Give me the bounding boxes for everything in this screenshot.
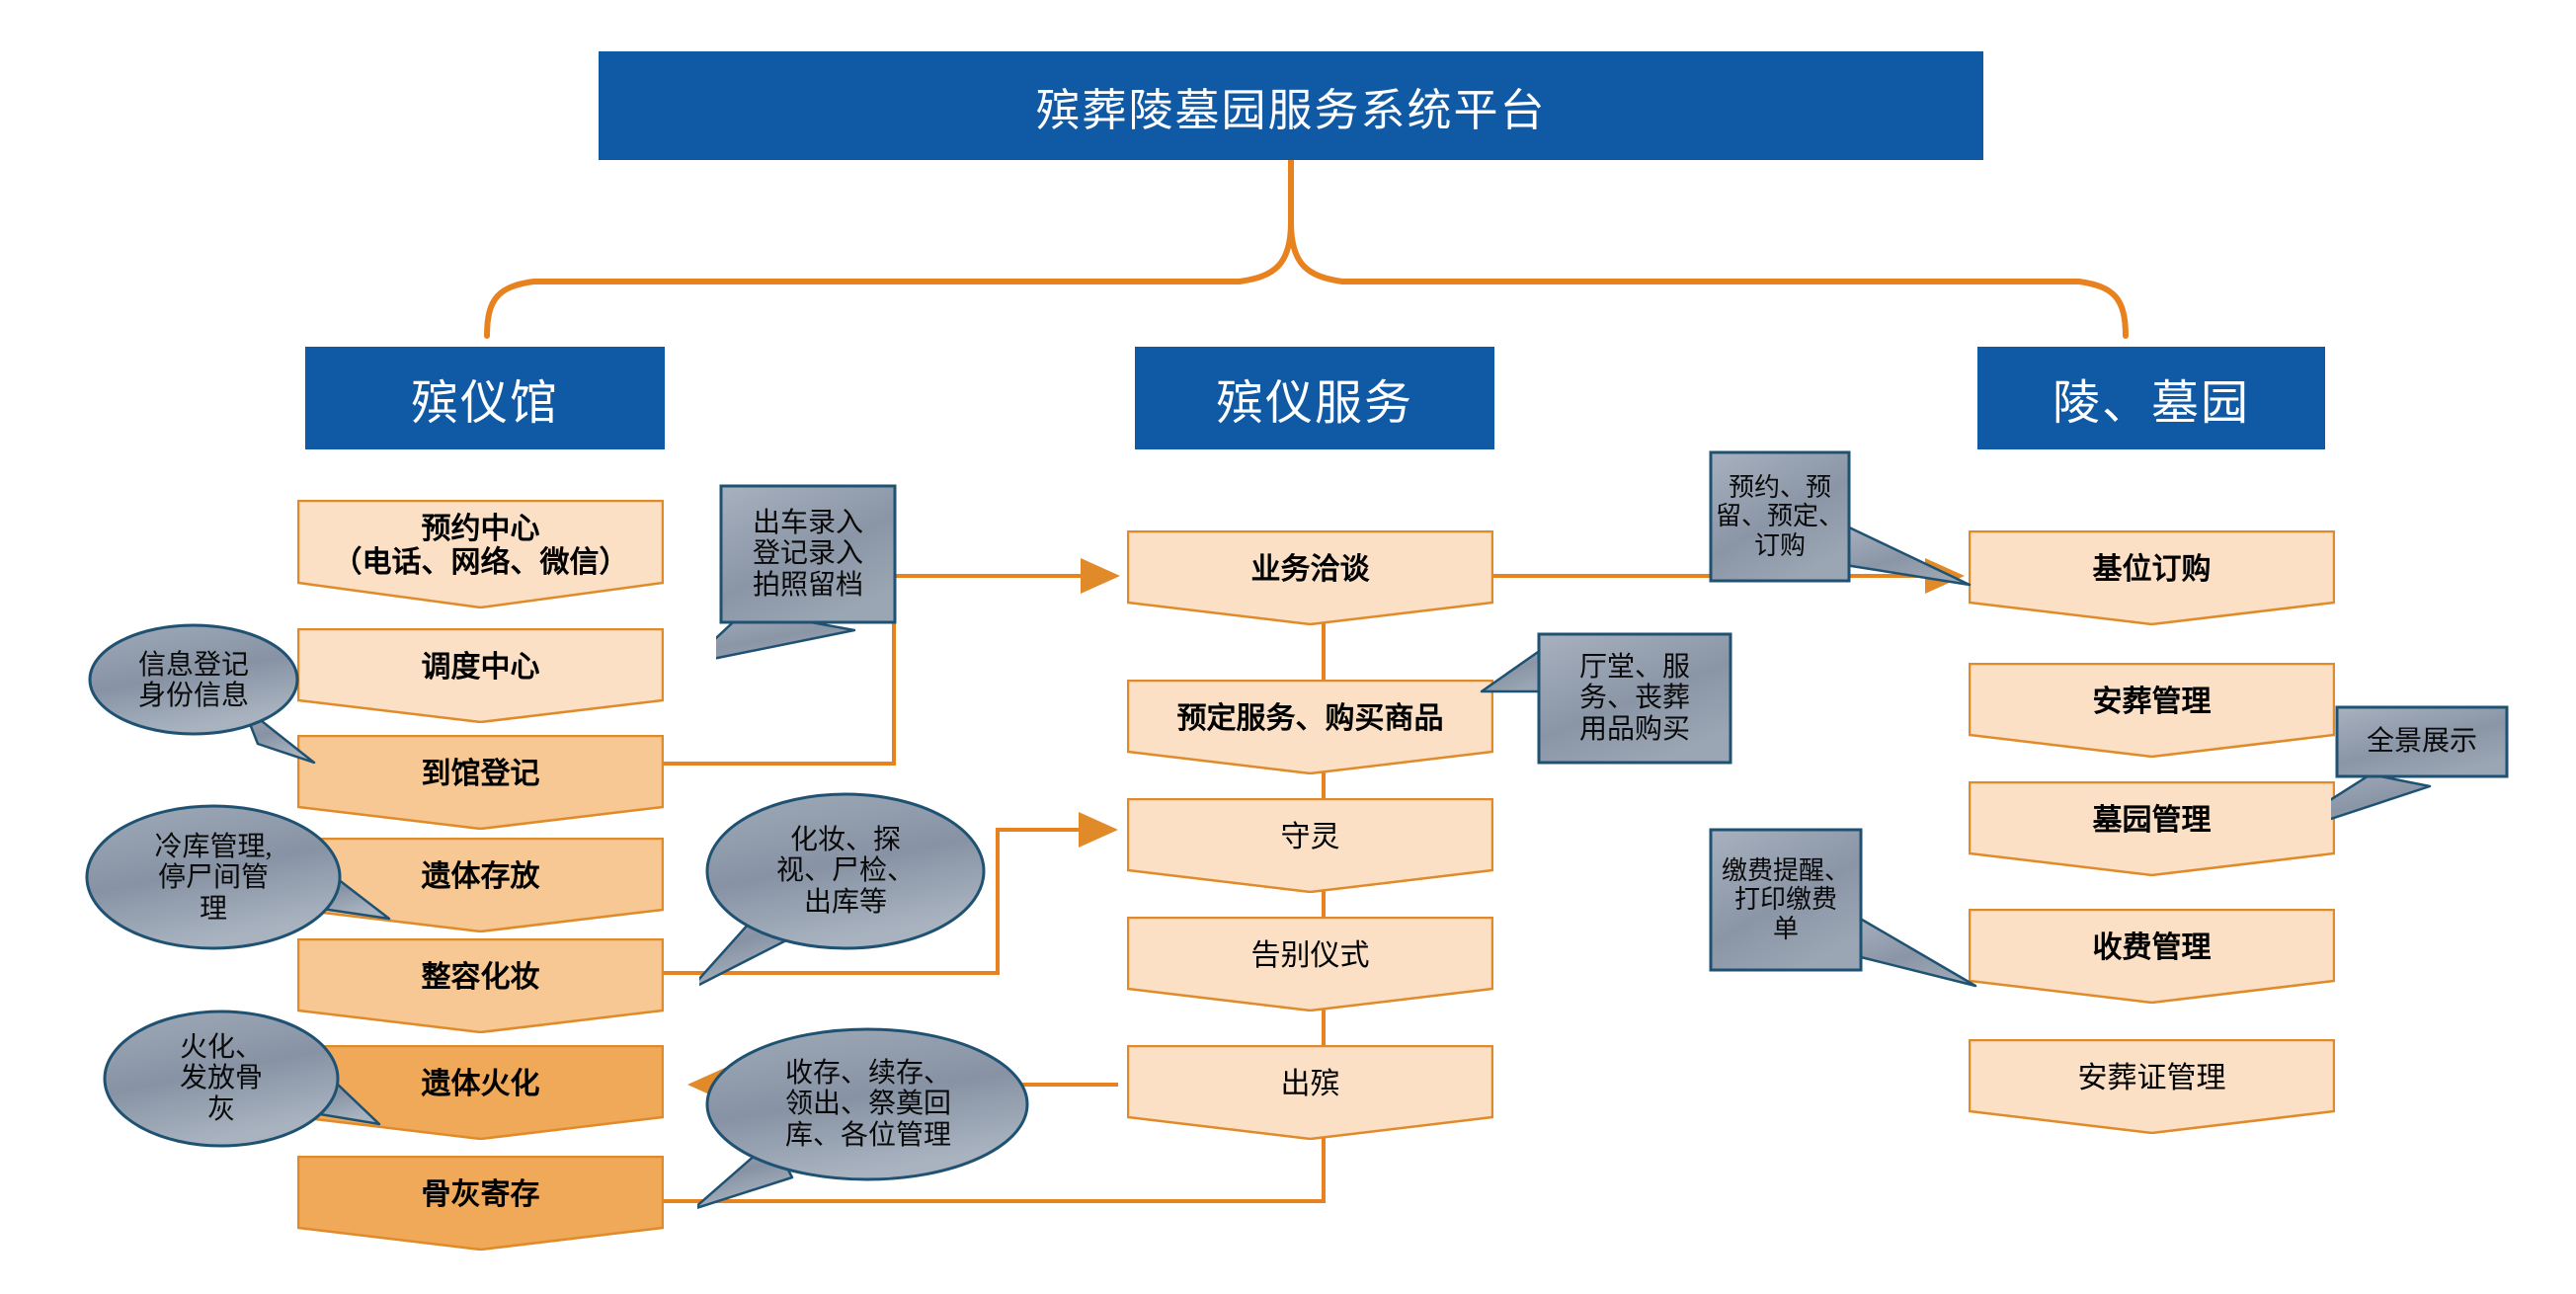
- process-label: 到馆登记: [422, 758, 540, 791]
- process-label: 调度中心: [422, 651, 540, 685]
- process-label: 基位订购: [2093, 553, 2212, 587]
- callout-line: 领出、祭奠回: [785, 1089, 951, 1119]
- callout-line: 视、尸检、: [776, 855, 915, 886]
- process-box-business-consultation[interactable]: 业务洽谈: [1127, 530, 1493, 625]
- callout-line: 单: [1722, 915, 1850, 943]
- process-box-farewell-ceremony[interactable]: 告别仪式: [1127, 917, 1493, 1011]
- process-box-appointment-center[interactable]: 预约中心 （电话、网络、微信）: [297, 500, 664, 608]
- callout-line: 收存、续存、: [785, 1058, 951, 1089]
- callout-line: 务、丧葬: [1579, 683, 1690, 713]
- process-box-grave-order[interactable]: 基位订购: [1969, 530, 2335, 625]
- process-box-burial-certificate[interactable]: 安葬证管理: [1969, 1039, 2335, 1134]
- callout-info-registration[interactable]: 信息登记 身份信息: [85, 612, 381, 800]
- callout-line: 留、预定、: [1716, 502, 1844, 530]
- process-label: 预定服务、购买商品: [1177, 702, 1444, 736]
- callout-line: 停尸间管: [154, 862, 272, 893]
- callout-hall-goods-purchase[interactable]: 厅堂、服 务、丧葬 用品购买: [1480, 620, 1756, 808]
- process-label: 业务洽谈: [1251, 553, 1370, 587]
- callout-line: 登记录入: [753, 538, 863, 569]
- callout-ash-storage-operations[interactable]: 收存、续存、 领出、祭奠回 库、各位管理: [697, 1013, 1033, 1241]
- callout-line: 出车录入: [753, 508, 863, 538]
- process-box-vigil[interactable]: 守灵: [1127, 798, 1493, 893]
- callout-line: 缴费提醒、: [1722, 856, 1850, 885]
- process-box-funeral-procession[interactable]: 出殡: [1127, 1045, 1493, 1140]
- callout-line: 预约、预: [1716, 473, 1844, 502]
- process-label: 遗体存放: [422, 860, 540, 894]
- process-box-burial-management[interactable]: 安葬管理: [1969, 663, 2335, 758]
- callout-dispatch-record[interactable]: 出车录入 登记录入 拍照留档: [716, 482, 963, 699]
- callout-line: 库、各位管理: [785, 1120, 951, 1151]
- diagram-canvas: 殡葬陵墓园服务系统平台 殡仪馆 殡仪服务 陵、墓园 预约中心 （电话、网络、微信…: [0, 0, 2576, 1294]
- callout-line: 火化、: [180, 1032, 263, 1063]
- callout-payment-reminder[interactable]: 缴费提醒、 打印缴费 单: [1707, 818, 2023, 1035]
- process-label: 告别仪式: [1251, 939, 1370, 973]
- section-header-funeral-home: 殡仪馆: [305, 347, 665, 449]
- callout-line: 发放骨: [180, 1063, 263, 1093]
- section-header-funeral-service: 殡仪服务: [1135, 347, 1494, 449]
- callout-line: 身份信息: [138, 681, 249, 711]
- callout-line: 冷库管理,: [154, 832, 272, 862]
- callout-line: 化妆、探: [776, 825, 915, 855]
- callout-line: 信息登记: [138, 650, 249, 681]
- callout-panorama[interactable]: 全景展示: [2331, 691, 2576, 879]
- process-label: 安葬管理: [2093, 686, 2212, 719]
- process-label: 安葬证管理: [2078, 1062, 2226, 1095]
- top-bracket: [487, 160, 2126, 336]
- callout-line: 出库等: [776, 887, 915, 918]
- process-box-cemetery-management[interactable]: 墓园管理: [1969, 781, 2335, 876]
- callout-line: 灰: [180, 1094, 263, 1125]
- callout-line: 理: [154, 894, 272, 925]
- process-label: 守灵: [1281, 821, 1340, 854]
- process-box-fee-management[interactable]: 收费管理: [1969, 909, 2335, 1004]
- process-label: 遗体火化: [422, 1068, 540, 1101]
- process-label-line1: 预约中心: [333, 513, 629, 546]
- section-header-cemetery: 陵、墓园: [1977, 347, 2325, 449]
- process-label: 骨灰寄存: [422, 1178, 540, 1212]
- callout-line: 全景展示: [2367, 726, 2477, 757]
- process-label: 出殡: [1281, 1068, 1340, 1101]
- callout-line: 拍照留档: [753, 570, 863, 601]
- callout-line: 厅堂、服: [1579, 652, 1690, 683]
- callout-cremation-ashes[interactable]: 火化、 发放骨 灰: [95, 998, 391, 1185]
- process-label: 墓园管理: [2093, 804, 2212, 838]
- callout-line: 订购: [1716, 531, 1844, 560]
- process-label-line2: （电话、网络、微信）: [333, 546, 629, 580]
- process-box-reserve-service-purchase[interactable]: 预定服务、购买商品: [1127, 680, 1493, 774]
- callout-line: 用品购买: [1579, 714, 1690, 745]
- process-label: 整容化妆: [422, 961, 540, 995]
- callout-cold-storage[interactable]: 冷库管理, 停尸间管 理: [75, 790, 401, 988]
- process-label: 收费管理: [2093, 931, 2212, 965]
- callout-makeup-inspection[interactable]: 化妆、探 视、尸检、 出库等: [699, 780, 996, 1008]
- page-title: 殡葬陵墓园服务系统平台: [599, 51, 1983, 160]
- callout-reserve-order[interactable]: 预约、预 留、预定、 订购: [1707, 435, 2023, 652]
- callout-line: 打印缴费: [1722, 885, 1850, 914]
